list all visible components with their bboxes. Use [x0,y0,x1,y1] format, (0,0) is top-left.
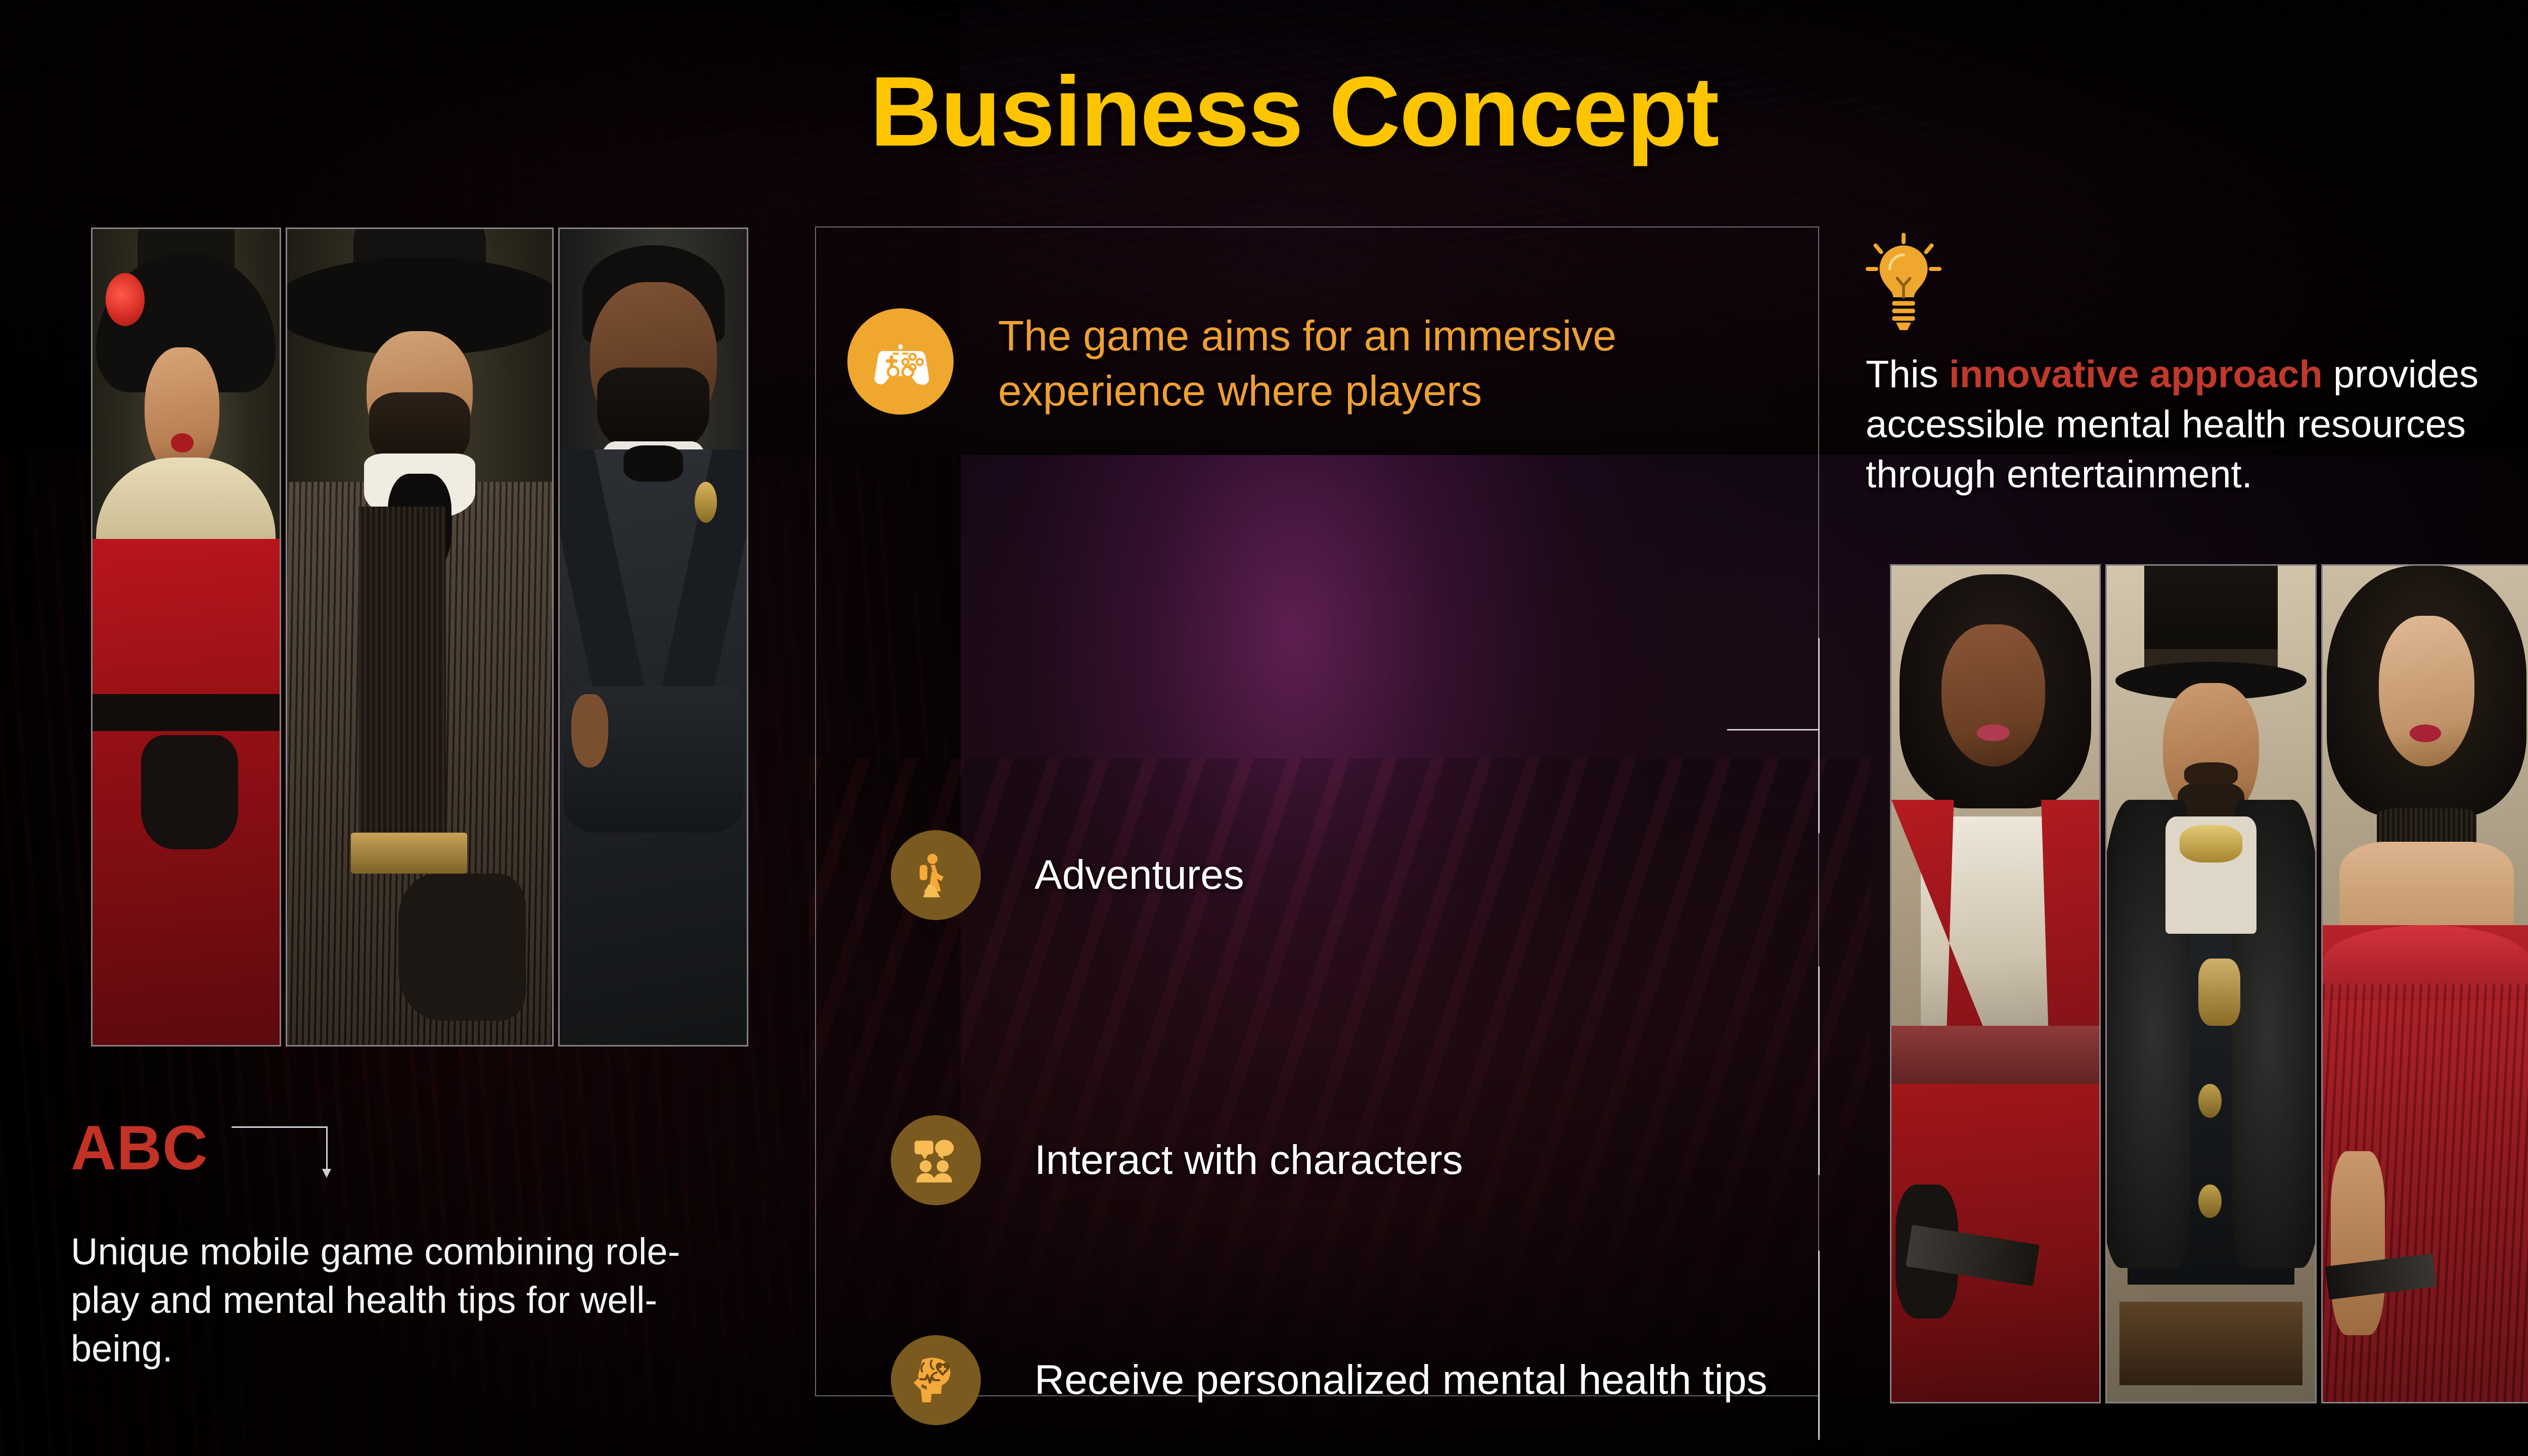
hiker-icon [891,830,981,920]
step-item-interact: Interact with characters [891,1115,1463,1205]
right-character-gallery [1890,564,2528,1403]
abc-body-text: Unique mobile game combining role-play a… [71,1227,728,1374]
character-portrait-1 [91,227,281,1046]
connector-line-to-step-3 [1818,1251,1820,1440]
slide-root: Business Concept ABC [0,0,2528,1456]
right-column: This innovative approach provides access… [1866,233,2528,499]
connector-line-vertical-1 [1818,638,1820,729]
abc-callout: ABC Unique mobile game combining role-pl… [71,1112,738,1374]
character-portrait-2 [286,227,554,1046]
step-item-adventures: Adventures [891,830,1244,920]
abc-label: ABC [71,1112,208,1184]
character-portrait-3 [558,227,748,1046]
abc-connector-line [232,1126,328,1170]
step-label-adventures: Adventures [1034,849,1244,901]
right-text-highlight: innovative approach [1949,353,2323,396]
gamepad-icon [847,308,954,415]
connector-line-elbow [1727,729,1820,731]
connector-line-to-step-1 [1818,729,1820,833]
step-item-mental-health: Receive personalized mental health tips [891,1335,1768,1425]
right-text-prefix: This [1866,353,1949,396]
lead-statement-row: The game aims for an immersive experienc… [847,308,1737,419]
people-group-icon [891,1115,981,1205]
brain-heart-icon [891,1335,981,1425]
page-title: Business Concept [0,55,2528,168]
lightbulb-icon [1866,233,1942,334]
connector-line-to-step-2 [1818,967,1820,1175]
lead-statement-text: The game aims for an immersive experienc… [998,308,1737,419]
step-label-interact: Interact with characters [1034,1134,1463,1187]
left-character-gallery [91,227,748,1046]
step-label-mental-health: Receive personalized mental health tips [1034,1354,1768,1406]
right-paragraph: This innovative approach provides access… [1866,350,2528,499]
center-panel: The game aims for an immersive experienc… [815,226,1819,1396]
abc-label-row: ABC [71,1112,738,1184]
character-portrait-5 [2105,564,2316,1403]
character-portrait-6 [2321,564,2528,1403]
character-portrait-4 [1890,564,2101,1403]
